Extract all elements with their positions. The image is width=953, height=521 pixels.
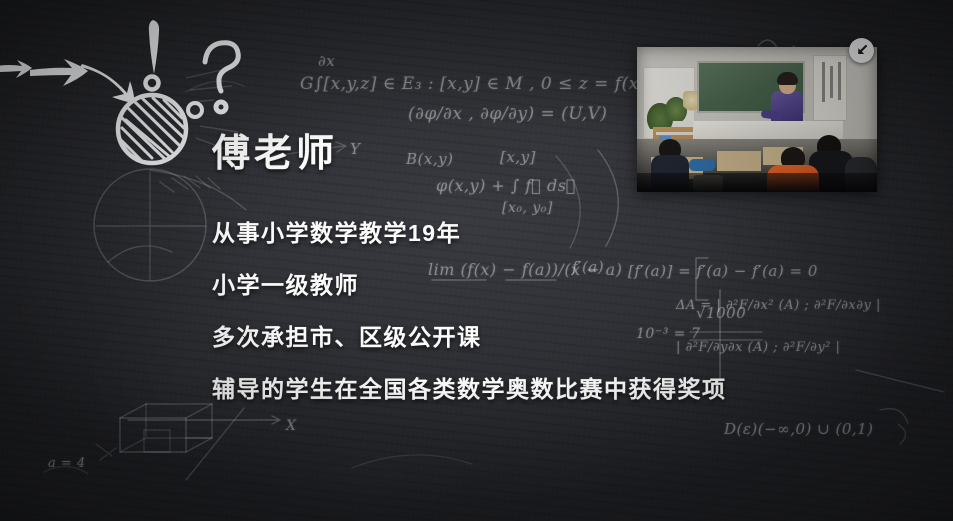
list-item: 多次承担市、区级公开课 [212,322,727,352]
video-overlay [637,47,877,192]
list-item: 从事小学数学教学19年 [212,218,727,248]
list-item: 辅导的学生在全国各类数学奥数比赛中获得奖项 [212,374,727,404]
bio-bullet-list: 从事小学数学教学19年 小学一级教师 多次承担市、区级公开课 辅导的学生在全国各… [212,218,727,404]
classroom-video-inset[interactable] [637,47,877,192]
page-title: 傅老师 [212,122,338,177]
lesson-intro-slide: ∂x G∫[x,y,z] ∈ E₃ : [x,y] ∈ M , 0 ≤ z = … [0,0,953,521]
arrow-down-left-icon [854,43,870,59]
list-item: 小学一级教师 [212,270,727,300]
minimize-video-button[interactable] [849,38,874,63]
